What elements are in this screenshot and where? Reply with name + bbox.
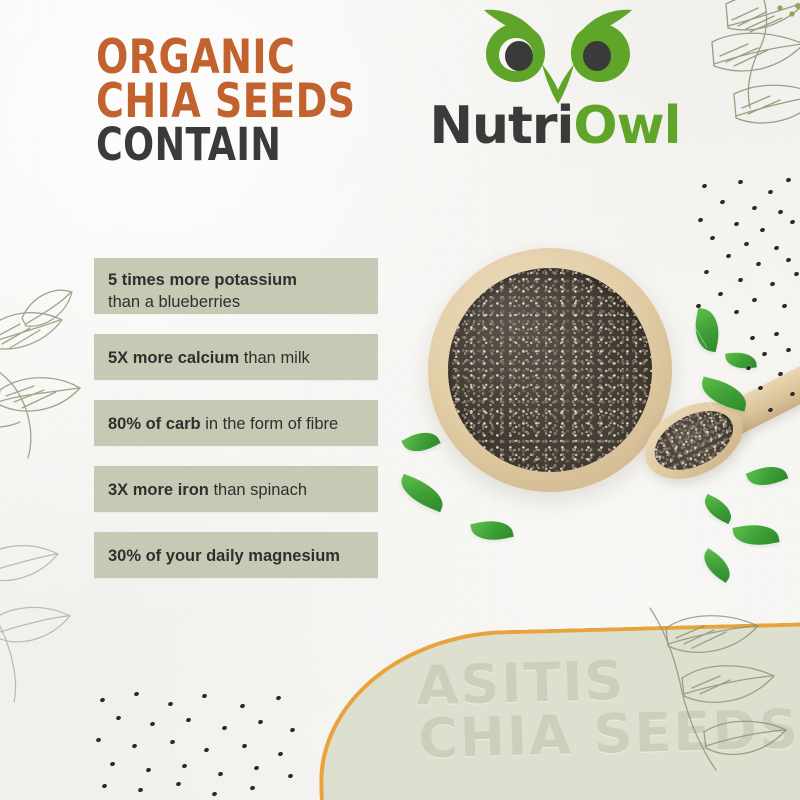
panel-watermark-text: ASITIS CHIA SEEDS: [416, 649, 800, 766]
fact-list: 5 times more potassium than a blueberrie…: [94, 258, 378, 598]
scattered-chia-seeds-bottom-left: [92, 688, 302, 800]
fact-text: 5 times more potassium than a blueberrie…: [94, 258, 378, 325]
fact-detail: than milk: [239, 349, 310, 367]
fact-text: 30% of your daily magnesium: [94, 532, 378, 578]
fact-box-potassium[interactable]: 5 times more potassium than a blueberrie…: [94, 258, 378, 314]
chia-seed-bowl: [428, 248, 672, 492]
owl-icon: [478, 6, 638, 106]
fact-detail: than a blueberries: [108, 293, 240, 311]
green-leaf: [732, 520, 779, 549]
fact-box-magnesium[interactable]: 30% of your daily magnesium: [94, 532, 378, 578]
brand-logo: NutriOwl: [400, 4, 710, 174]
fact-highlight: 3X more iron: [108, 481, 209, 499]
green-leaf: [700, 494, 737, 524]
brand-name-part1: Nutri: [430, 96, 574, 156]
fact-text: 80% of carb in the form of fibre: [94, 400, 378, 446]
green-leaf: [746, 460, 789, 493]
fact-detail: than spinach: [209, 481, 307, 499]
bowl-seed-fill: [448, 268, 652, 472]
green-leaf: [396, 474, 449, 512]
fact-highlight: 30% of your daily magnesium: [108, 547, 340, 565]
bottom-product-panel: ASITIS CHIA SEEDS: [315, 621, 800, 800]
headline-line-3: CONTAIN: [96, 124, 366, 166]
brand-name-part2: Owl: [573, 96, 680, 156]
green-leaf: [690, 308, 724, 353]
fact-box-iron[interactable]: 3X more iron than spinach: [94, 466, 378, 512]
green-leaf: [470, 516, 513, 545]
fact-box-calcium[interactable]: 5X more calcium than milk: [94, 334, 378, 380]
fact-highlight: 5 times more potassium: [108, 271, 297, 289]
fact-highlight: 80% of carb: [108, 415, 201, 433]
fact-highlight: 5X more calcium: [108, 349, 239, 367]
headline: ORGANIC CHIA SEEDS CONTAIN: [96, 36, 396, 167]
fact-detail: in the form of fibre: [201, 415, 339, 433]
fact-text: 5X more calcium than milk: [94, 334, 378, 380]
green-leaf: [725, 350, 757, 370]
watermark-line-2: CHIA SEEDS: [418, 702, 800, 766]
fact-box-fibre[interactable]: 80% of carb in the form of fibre: [94, 400, 378, 446]
fact-text: 3X more iron than spinach: [94, 466, 378, 512]
infographic-poster: ASITIS CHIA SEEDS: [0, 0, 800, 800]
scattered-chia-seeds-top-right: [690, 176, 800, 316]
seed-texture: [448, 268, 652, 472]
green-leaf: [401, 425, 440, 459]
green-leaf: [698, 548, 737, 583]
brand-wordmark: NutriOwl: [400, 100, 710, 152]
